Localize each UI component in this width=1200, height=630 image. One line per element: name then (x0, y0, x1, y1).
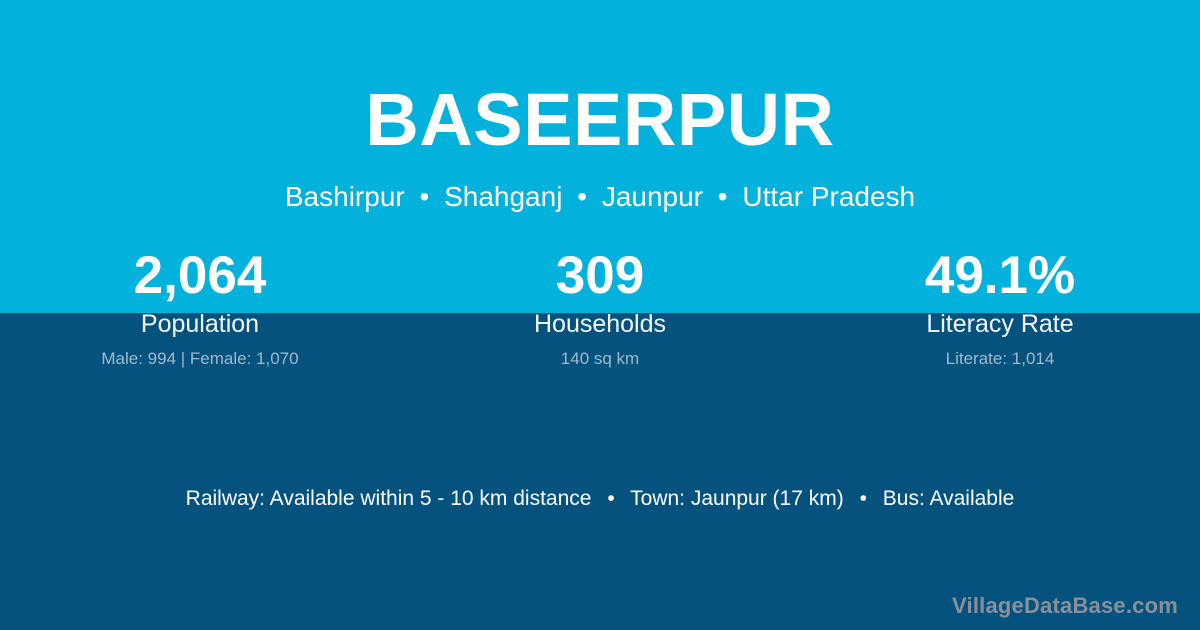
breadcrumb: Bashirpur • Shahganj • Jaunpur • Uttar P… (0, 182, 1200, 213)
facility-town: Town: Jaunpur (17 km) (630, 487, 844, 510)
facilities-line: Railway: Available within 5 - 10 km dist… (0, 486, 1200, 511)
bullet-separator-icon: • (570, 181, 594, 212)
site-watermark: VillageDataBase.com (952, 595, 1178, 617)
stat-value: 49.1% (800, 245, 1200, 308)
breadcrumb-item-village[interactable]: Bashirpur (285, 181, 405, 212)
stat-value: 2,064 (0, 245, 400, 308)
facility-railway: Railway: Available within 5 - 10 km dist… (186, 487, 592, 510)
bullet-separator-icon: • (413, 181, 437, 212)
bullet-separator-icon: • (597, 487, 624, 510)
stat-value: 309 (400, 245, 800, 308)
stat-literacy-rate: 49.1% Literacy Rate Literate: 1,014 (800, 245, 1200, 369)
breadcrumb-item-block[interactable]: Shahganj (444, 181, 562, 212)
bullet-separator-icon: • (711, 181, 735, 212)
page-title: BASEERPUR (0, 83, 1200, 157)
stat-population: 2,064 Population Male: 994 | Female: 1,0… (0, 245, 400, 369)
stat-subvalue: Male: 994 | Female: 1,070 (0, 350, 400, 369)
stat-subvalue: Literate: 1,014 (800, 350, 1200, 369)
village-info-card: BASEERPUR Bashirpur • Shahganj • Jaunpur… (0, 0, 1200, 630)
stat-households: 309 Households 140 sq km (400, 245, 800, 369)
breadcrumb-item-district[interactable]: Jaunpur (602, 181, 703, 212)
stat-label: Literacy Rate (800, 311, 1200, 339)
stats-row: 2,064 Population Male: 994 | Female: 1,0… (0, 245, 1200, 369)
breadcrumb-item-state[interactable]: Uttar Pradesh (742, 181, 915, 212)
stat-label: Population (0, 311, 400, 339)
bullet-separator-icon: • (850, 487, 877, 510)
stat-subvalue: 140 sq km (400, 350, 800, 369)
facility-bus: Bus: Available (883, 487, 1015, 510)
stat-label: Households (400, 311, 800, 339)
